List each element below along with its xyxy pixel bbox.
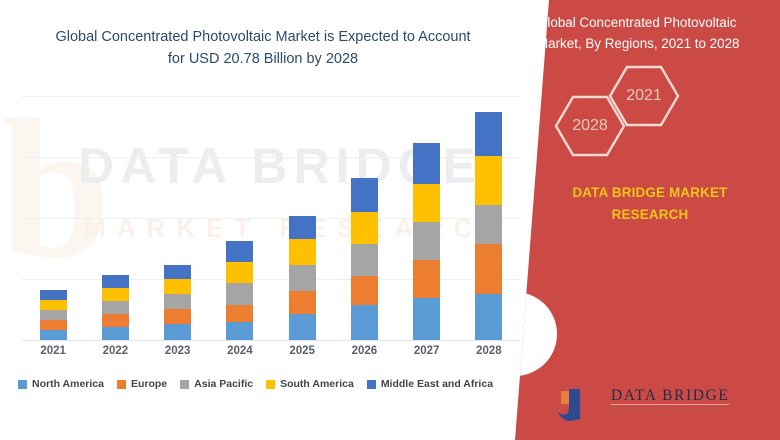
bar-segment[interactable] [351, 178, 378, 212]
legend-label: Asia Pacific [194, 378, 253, 390]
bar-segment[interactable] [413, 143, 440, 184]
bar-2022[interactable] [102, 275, 129, 340]
x-axis-label-2023: 2023 [147, 345, 209, 357]
legend-label: Europe [131, 378, 167, 390]
bar-segment[interactable] [40, 300, 67, 310]
bar-segment[interactable] [475, 112, 502, 156]
footer-logo-text: DATA BRIDGE [611, 387, 729, 405]
x-axis-label-2021: 2021 [22, 345, 84, 357]
bar-2021[interactable] [40, 290, 67, 340]
bar-2026[interactable] [351, 178, 378, 340]
bar-segment[interactable] [164, 265, 191, 279]
bar-2027[interactable] [413, 143, 440, 340]
bar-segment[interactable] [413, 260, 440, 298]
bar-segment[interactable] [164, 279, 191, 294]
footer-logo-divider [611, 404, 729, 405]
legend-label: South America [280, 378, 354, 390]
legend-label: North America [32, 378, 104, 390]
bar-segment[interactable] [351, 244, 378, 276]
brand-name-line1: DATA BRIDGE MARKET [535, 182, 765, 204]
legend-label: Middle East and Africa [381, 378, 493, 390]
bar-segment[interactable] [164, 309, 191, 324]
bar-segment[interactable] [102, 275, 129, 288]
hexagon-badge-2028-label: 2028 [569, 117, 611, 135]
chart-panel: Global Concentrated Photovoltaic Market … [0, 0, 545, 440]
legend-swatch-icon [18, 380, 27, 389]
brand-name-line2: RESEARCH [535, 204, 765, 226]
chart-legend: North AmericaEuropeAsia PacificSouth Ame… [18, 374, 530, 394]
bar-segment[interactable] [226, 305, 253, 322]
footer-logo-subtext: MARKET RESEARCH [612, 407, 730, 414]
bar-segment[interactable] [102, 288, 129, 301]
bar-segment[interactable] [226, 283, 253, 305]
bar-segment[interactable] [475, 244, 502, 294]
bar-segment[interactable] [475, 156, 502, 205]
x-axis-label-2025: 2025 [271, 345, 333, 357]
chart-title: Global Concentrated Photovoltaic Market … [48, 26, 478, 71]
bar-2025[interactable] [289, 216, 316, 340]
x-axis-labels: 20212022202320242025202620272028 [22, 345, 520, 367]
bar-segment[interactable] [226, 322, 253, 340]
bar-segment[interactable] [289, 265, 316, 291]
bar-segment[interactable] [40, 310, 67, 320]
x-axis-label-2028: 2028 [458, 345, 520, 357]
legend-item[interactable]: Middle East and Africa [367, 378, 493, 390]
bar-segment[interactable] [475, 294, 502, 340]
bar-segment[interactable] [102, 301, 129, 314]
bar-2023[interactable] [164, 265, 191, 340]
footer-logo: DATA BRIDGE MARKET RESEARCH [555, 385, 755, 429]
bar-segment[interactable] [102, 327, 129, 340]
databridge-b-logo-icon [555, 385, 607, 425]
hexagon-badge-2021-label: 2021 [623, 87, 665, 105]
legend-item[interactable]: Asia Pacific [180, 378, 253, 390]
bar-segment[interactable] [226, 262, 253, 283]
legend-item[interactable]: Europe [117, 378, 167, 390]
legend-swatch-icon [266, 380, 275, 389]
bar-segment[interactable] [102, 314, 129, 327]
bar-segment[interactable] [351, 305, 378, 340]
bar-segment[interactable] [351, 212, 378, 244]
bar-segment[interactable] [351, 276, 378, 305]
bar-segment[interactable] [413, 184, 440, 222]
x-axis-label-2026: 2026 [333, 345, 395, 357]
bar-segment[interactable] [164, 294, 191, 309]
x-axis-label-2024: 2024 [209, 345, 271, 357]
legend-item[interactable]: North America [18, 378, 104, 390]
legend-swatch-icon [367, 380, 376, 389]
bar-segment[interactable] [289, 291, 316, 314]
bar-2024[interactable] [226, 241, 253, 340]
brand-name: DATA BRIDGE MARKET RESEARCH [535, 182, 765, 226]
x-axis-label-2027: 2027 [396, 345, 458, 357]
x-axis-line [22, 340, 520, 341]
x-axis-label-2022: 2022 [84, 345, 146, 357]
bar-segment[interactable] [40, 290, 67, 300]
bar-segment[interactable] [413, 298, 440, 340]
hexagon-badges: 2021 2028 [515, 55, 780, 175]
bar-series-group [22, 96, 520, 340]
legend-swatch-icon [180, 380, 189, 389]
bar-2028[interactable] [475, 112, 502, 340]
hexagon-svg [515, 55, 780, 175]
bar-segment[interactable] [475, 205, 502, 244]
bar-segment[interactable] [226, 241, 253, 262]
bar-segment[interactable] [289, 314, 316, 340]
panel-title: Global Concentrated Photovoltaic Market,… [537, 12, 775, 55]
legend-swatch-icon [117, 380, 126, 389]
bar-segment[interactable] [164, 324, 191, 340]
bar-segment[interactable] [289, 239, 316, 265]
bar-segment[interactable] [40, 330, 67, 340]
right-red-panel: Global Concentrated Photovoltaic Market,… [515, 0, 780, 440]
bar-segment[interactable] [413, 222, 440, 260]
infographic-root: b DATA BRIDGE MARKET RESEARCH Global Con… [0, 0, 780, 440]
bar-segment[interactable] [40, 320, 67, 330]
legend-item[interactable]: South America [266, 378, 354, 390]
bar-segment[interactable] [289, 216, 316, 239]
